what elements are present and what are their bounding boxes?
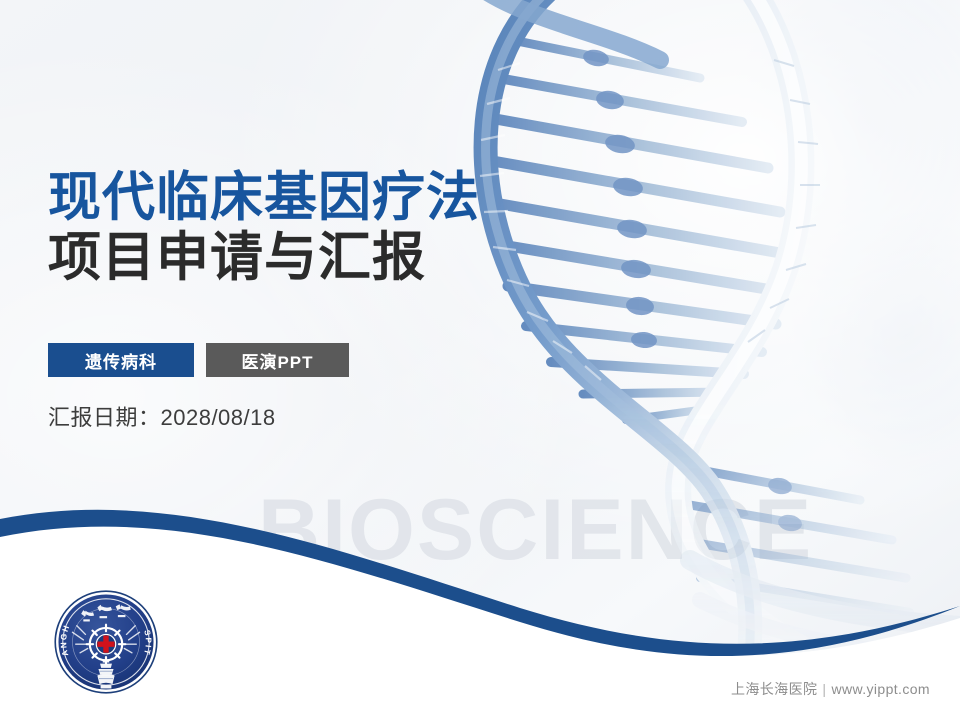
badge-template-brand[interactable]: 医演PPT xyxy=(206,343,349,377)
title-block: 现代临床基因疗法 项目申请与汇报 xyxy=(48,168,480,289)
page-title-line1: 现代临床基因疗法 xyxy=(48,168,480,228)
badge-department[interactable]: 遗传病科 xyxy=(48,343,194,377)
hospital-logo: CHANGHAI HOSPITAL xyxy=(52,588,160,696)
slide-content: 现代临床基因疗法 项目申请与汇报 遗传病科 医演PPT 汇报日期：2028/08… xyxy=(0,0,960,720)
footer-credit: 上海长海医院|www.yippt.com xyxy=(731,679,930,699)
footer-website[interactable]: www.yippt.com xyxy=(831,681,930,697)
badge-row: 遗传病科 医演PPT xyxy=(48,343,349,377)
footer-separator: | xyxy=(822,681,826,697)
page-title-line2: 项目申请与汇报 xyxy=(48,228,480,288)
title-slide: BIOSCIENCE xyxy=(0,0,960,720)
report-date: 汇报日期：2028/08/18 xyxy=(48,400,276,432)
footer-organization: 上海长海医院 xyxy=(731,681,817,697)
